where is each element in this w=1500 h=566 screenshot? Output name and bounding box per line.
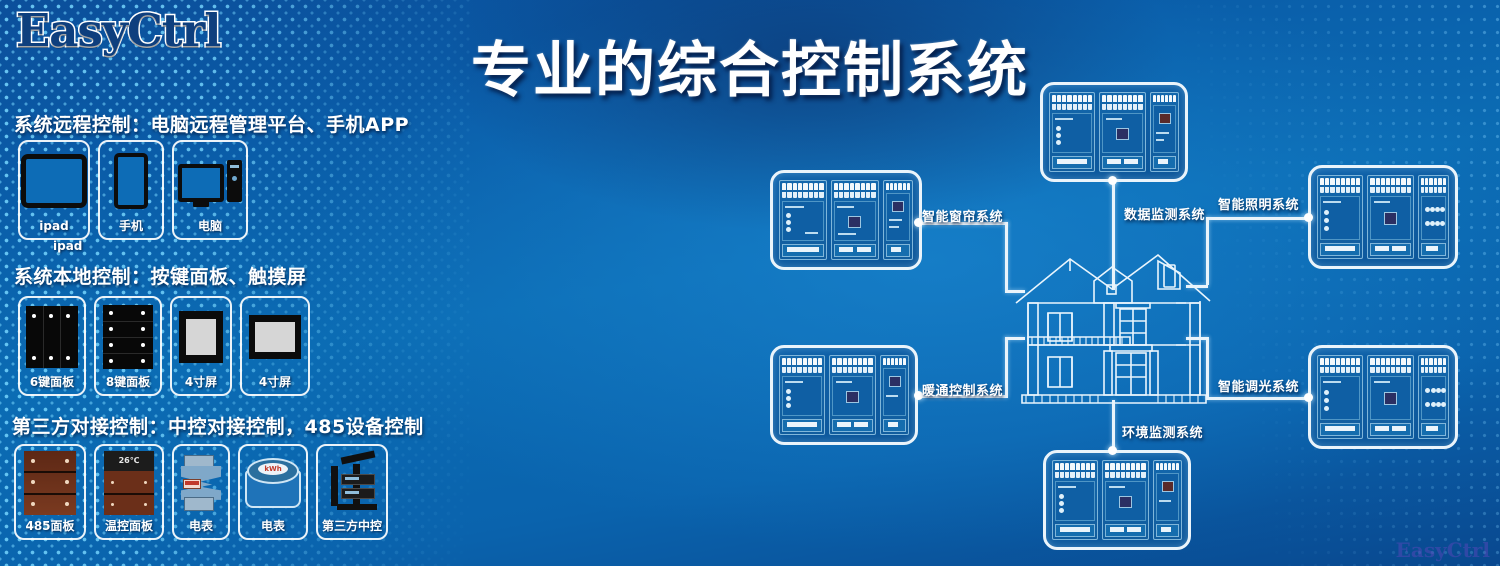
diagram-label-data: 数据监测系统 [1124,204,1205,223]
device-card-thermostat-panel[interactable]: 26℃ 温控面板 [94,444,164,540]
din-device [1317,175,1363,259]
diagram-label-lighting: 智能照明系统 [1218,194,1299,213]
device-card-485-panel[interactable]: 485面板 [14,444,86,540]
node-environment [1108,446,1117,455]
device-card-meter-2[interactable]: kWh 电表 [238,444,308,540]
device-card-label: 电表 [189,520,213,533]
device-card-phone[interactable]: 手机 [98,140,164,240]
wire-dim-c [1186,337,1208,340]
din-device [779,180,827,260]
device-card-third-party-controller[interactable]: 第三方中控 [316,444,388,540]
rs485-panel-icon [16,446,84,520]
din-device [779,355,825,435]
din-device-compact [1418,175,1449,259]
four-inch-screen-portrait-icon [172,298,230,376]
module-top[interactable] [1040,82,1188,182]
diagram-label-hvac: 暖通控制系统 [922,380,1003,399]
card-row-thirdparty: 485面板 26℃ 温控面板 电表 kWh 电表 [14,444,388,540]
module-right-bottom[interactable] [1308,345,1458,449]
node-dimming [1304,393,1313,402]
device-card-8key-panel[interactable]: 8键面板 [94,296,162,396]
wire-dim-a [1206,397,1308,400]
round-meter-icon: kWh [240,446,306,520]
din-device [831,180,879,260]
thermostat-panel-icon: 26℃ [96,446,162,520]
device-card-meter-1[interactable]: 电表 [172,444,230,540]
four-inch-screen-landscape-icon [242,298,308,376]
watermark: EasyCtrl [1396,538,1490,562]
wire-hvac-b [1005,337,1008,395]
module-left-top[interactable] [770,170,922,270]
device-card-label: 6键面板 [30,376,74,389]
diagram-label-environment: 环境监测系统 [1122,422,1203,441]
electric-meter-icon [174,446,228,520]
din-device [1102,460,1148,540]
wire-curtain-c [1005,290,1025,293]
device-card-label: 第三方中控 [322,520,382,533]
din-device-compact [1150,92,1179,172]
din-device-compact [883,180,913,260]
device-card-4inch-screen-a[interactable]: 4寸屏 [170,296,232,396]
din-device-compact [880,355,909,435]
device-card-6key-panel[interactable]: 6键面板 [18,296,86,396]
din-device [1317,355,1363,439]
wire-data-a [1112,180,1115,290]
din-device-compact [1153,460,1182,540]
thermostat-display-value: 26℃ [104,451,154,471]
stray-ipad-label: ipad [53,239,82,253]
device-card-ipad[interactable]: ipad [18,140,90,240]
brand-logo: EasyCtrl [16,4,220,57]
device-card-label: 手机 [119,220,143,233]
din-device [1367,175,1413,259]
card-row-local: 6键面板 8键面板 4寸屏 4寸屏 [18,296,310,396]
system-topology-diagram: 智能窗帘系统 数据监测系统 智能照明系统 暖通控制系统 环境监测系统 智能调光系… [740,60,1500,566]
din-device [829,355,875,435]
wire-curtain-b [1005,222,1008,290]
third-party-controller-icon [318,446,386,520]
section-heading-local: 系统本地控制：按键面板、触摸屏 [14,262,307,289]
device-card-label: 电表 [261,520,285,533]
section-heading-remote: 系统远程控制：电脑远程管理平台、手机APP [14,110,409,137]
device-card-label: 温控面板 [105,520,153,533]
diagram-label-curtain: 智能窗帘系统 [922,206,1003,225]
device-card-computer[interactable]: 电脑 [172,140,248,240]
diagram-label-dimming: 智能调光系统 [1218,376,1299,395]
din-device [1049,92,1095,172]
din-device [1367,355,1413,439]
wire-hvac-c [1005,337,1025,340]
device-card-label: 4寸屏 [185,376,217,389]
device-card-label: 485面板 [25,520,74,533]
card-row-remote: ipad 手机 电脑 [18,140,248,240]
module-left-bottom[interactable] [770,345,918,445]
wire-lighting-a [1206,217,1308,220]
desktop-computer-icon [174,142,246,220]
poster-canvas: EasyCtrl 专业的综合控制系统 系统远程控制：电脑远程管理平台、手机APP… [0,0,1500,566]
node-data [1108,176,1117,185]
module-right-top[interactable] [1308,165,1458,269]
device-card-label: 4寸屏 [259,376,291,389]
eight-key-panel-icon [96,298,160,376]
device-card-label: 8键面板 [106,376,150,389]
din-device-compact [1418,355,1449,439]
device-card-label: 电脑 [198,220,222,233]
wire-dim-b [1206,337,1209,397]
device-card-4inch-screen-b[interactable]: 4寸屏 [240,296,310,396]
smartphone-icon [100,142,162,220]
din-device [1099,92,1145,172]
tablet-icon [20,142,88,220]
section-heading-thirdparty: 第三方对接控制：中控对接控制，485设备控制 [12,412,424,439]
module-bottom[interactable] [1043,450,1191,550]
wire-lighting-b [1206,217,1209,285]
din-device [1052,460,1098,540]
node-lighting [1304,213,1313,222]
six-key-panel-icon [20,298,84,376]
device-card-label: ipad [39,220,68,233]
wire-lighting-c [1186,285,1208,288]
wire-env-a [1112,400,1115,450]
